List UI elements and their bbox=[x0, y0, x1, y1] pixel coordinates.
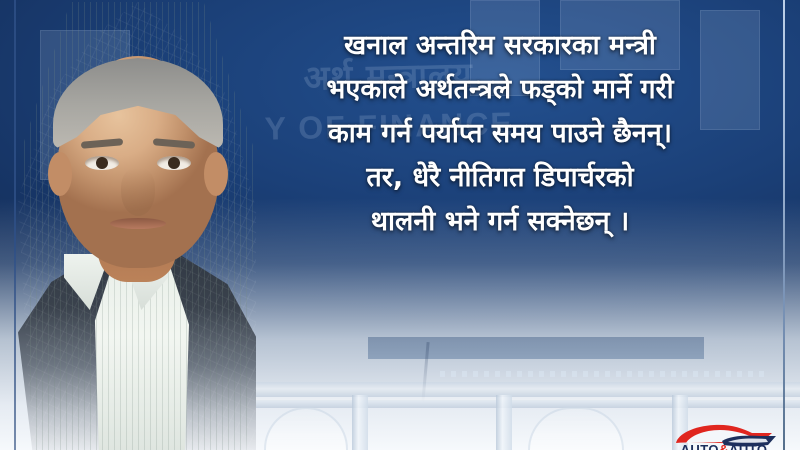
building-arch-2 bbox=[528, 407, 624, 450]
building-arch-1 bbox=[264, 407, 348, 450]
portrait-ear-left bbox=[48, 152, 72, 196]
portrait-eye-left bbox=[85, 156, 119, 170]
portrait-eye-right bbox=[157, 156, 191, 170]
quote-line-1: खनाल अन्तरिम सरकारका मन्त्री bbox=[226, 26, 774, 70]
building-pillar-3 bbox=[496, 395, 512, 450]
left-rule bbox=[14, 0, 16, 450]
logo-word-left: AUTO bbox=[680, 442, 719, 450]
portrait-ear-right bbox=[204, 152, 228, 196]
quote-line-5: थालनी भने गर्न सक्नेछन् । bbox=[226, 202, 774, 246]
building-pillar-2 bbox=[352, 395, 368, 450]
portrait-of-official bbox=[18, 2, 256, 450]
quote-block: खनाल अन्तरिम सरकारका मन्त्री भएकाले अर्थ… bbox=[226, 26, 774, 246]
logo-wordmark: AUTO&AUTO bbox=[668, 442, 780, 450]
quote-line-3: काम गर्न पर्याप्त समय पाउने छैनन्। bbox=[226, 114, 774, 158]
building-cornice-lower bbox=[184, 401, 800, 408]
portrait-mouth bbox=[110, 218, 166, 229]
portrait-pupil-left bbox=[96, 157, 108, 169]
quote-line-2: भएकाले अर्थतन्त्रले फड्को मार्ने गरी bbox=[226, 70, 774, 114]
auto-news-logo[interactable]: AUTO&AUTO bbox=[668, 416, 780, 450]
portrait-eyebrow-left bbox=[81, 138, 123, 149]
building-dentil-row bbox=[440, 371, 768, 377]
news-quote-card: अर्थ मन्त्रालय Y OF FINANCE bbox=[0, 0, 800, 450]
portrait-pupil-right bbox=[168, 157, 180, 169]
logo-separator: & bbox=[719, 442, 729, 450]
building-cornice bbox=[184, 382, 800, 397]
portrait-nose bbox=[121, 168, 155, 216]
quote-line-4: तर, धेरै नीतिगत डिपार्चरको bbox=[226, 158, 774, 202]
logo-word-right: AUTO bbox=[729, 442, 768, 450]
portrait-eyebrow-right bbox=[153, 138, 195, 149]
right-rule bbox=[783, 0, 785, 450]
building-roof-shadow bbox=[368, 337, 704, 359]
